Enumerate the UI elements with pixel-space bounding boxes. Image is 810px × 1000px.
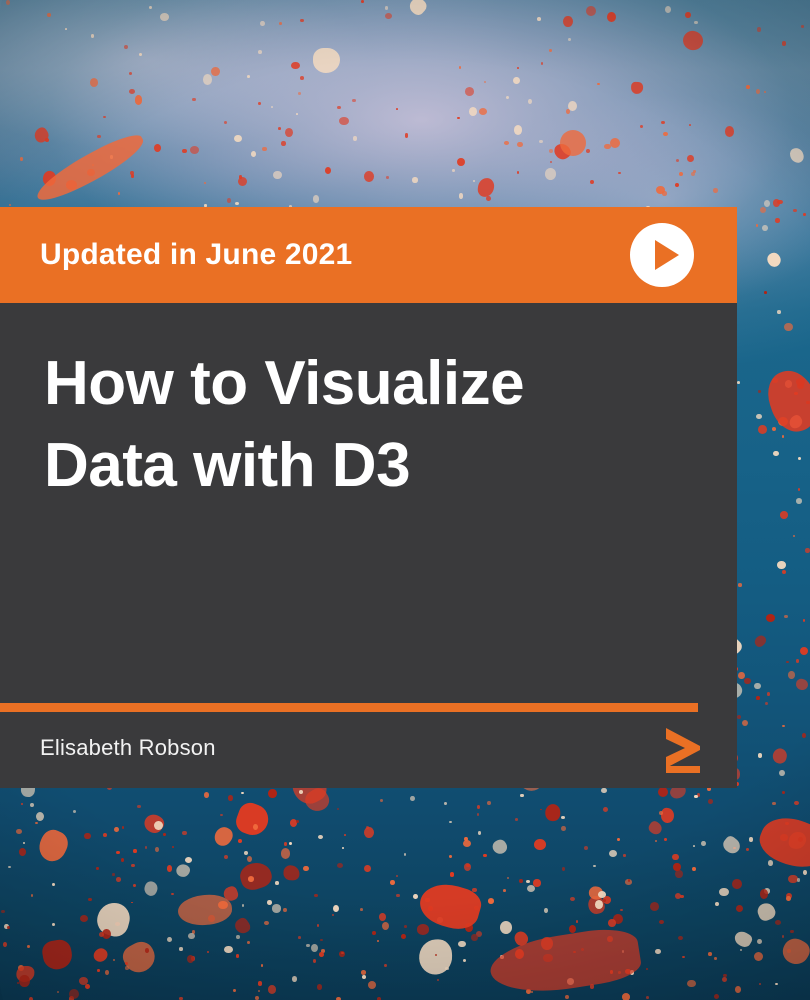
title-line-1: How to Visualize: [44, 343, 704, 425]
page-title: How to Visualize Data with D3: [44, 343, 704, 507]
play-circle-icon[interactable]: [630, 223, 694, 287]
author-name: Elisabeth Robson: [40, 735, 216, 761]
updated-banner-label: Updated in June 2021: [40, 238, 352, 272]
title-line-2: Data with D3: [44, 425, 704, 507]
course-cover: Updated in June 2021 How to Visualize Da…: [0, 0, 810, 1000]
updated-banner: Updated in June 2021: [0, 207, 737, 303]
title-card: How to Visualize Data with D3 Elisabeth …: [0, 303, 737, 788]
terminal-prompt-chevron-icon: [663, 724, 703, 774]
orange-divider: [0, 703, 698, 712]
